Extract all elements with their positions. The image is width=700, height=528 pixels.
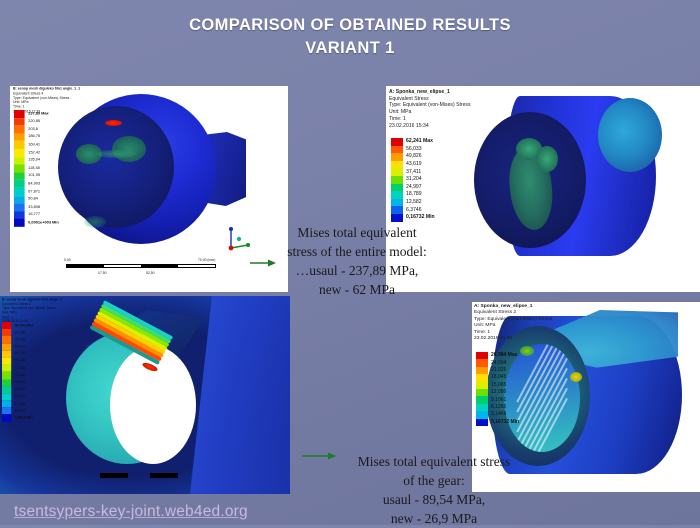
legend-swatch [14,180,25,188]
legend-row: 26,153 [2,386,33,393]
legend-swatch [14,211,25,219]
legend-row: 12,086 [476,389,519,396]
legend-swatch [391,206,403,214]
legend-row: 15,065 [476,382,519,389]
legend-swatch [476,389,488,396]
legend-row: 56,033 [391,146,435,154]
legend-swatch [476,411,488,418]
ruler-tick-label: 17,50 [98,271,107,275]
legend-swatch [14,157,25,165]
legend-row: 37,411 [391,168,435,176]
ruler-tick-label: 52,50 [146,271,155,275]
fea-panel-top-left[interactable]: B: eenop mesh diguleko 6to1 angle_1_1 Eq… [10,86,288,292]
legend-row: 62,241 Max [391,138,435,146]
legend-swatch [2,379,11,386]
scale-ruler-top-left: 0,00 17,50 52,50 70,00 (mm) [66,264,216,268]
legend-swatch [2,393,11,400]
stress-legend-top-right: 62,241 Max 56,033 49,826 43,619 37,411 3… [391,138,435,222]
slide-title-line2: VARIANT 1 [0,37,700,60]
legend-swatch [2,386,11,393]
annotation-line: Mises total equivalent stress [334,452,534,471]
legend-swatch [391,153,403,161]
footer-url[interactable]: tsentsypers-key-joint.web4ed.org [14,503,248,521]
legend-swatch [391,161,403,169]
slide-title-line1: COMPARISON OF OBTAINED RESULTS [0,14,700,37]
model-3d-top-right[interactable] [470,90,690,270]
legend-row: 0,16732 Min [391,214,435,222]
stress-legend-bottom-left: 89,543 Max 82,500 75,456 68,413 61,370 5… [2,322,33,422]
legend-swatch [476,374,488,381]
annotation-line: new - 62 MPa [258,280,456,299]
legend-swatch [2,358,11,365]
annotation-line: new - 26,9 MPa [334,509,534,528]
legend-swatch [2,372,11,379]
stress-hotspot [520,346,534,356]
legend-swatch [2,350,11,357]
orientation-triad-top-left [224,226,250,252]
ruler-tick-label: 0,00 [64,258,71,262]
legend-row: 21,025 [476,367,519,374]
legend-row: 19,110 [2,393,33,400]
ansys-info-header-bottom-left: B: eenop mesh diguleko 6to1 angle_1 Equi… [2,298,62,325]
legend-row: 16,777 [14,211,59,219]
legend-swatch [391,176,403,184]
legend-row: 50,84 [14,196,59,204]
legend-swatch [14,219,25,227]
legend-row: 49,826 [391,153,435,161]
legend-row: 75,456 [2,336,33,343]
legend-swatch [2,400,11,407]
legend-swatch [14,188,25,196]
legend-row: 33,196 [2,379,33,386]
legend-row: 3,1469 [476,411,519,418]
legend-swatch [476,359,488,366]
legend-row: 118,48 [14,164,59,172]
legend-swatch [391,168,403,176]
legend-row: 101,95 [14,172,59,180]
ruler-segment [67,265,104,267]
annotation-line: Mises total equivalent [258,223,456,242]
legend-swatch [391,146,403,154]
annotation-line: stress of the entire model: [258,242,456,261]
legend-swatch [14,110,25,118]
slide-title: COMPARISON OF OBTAINED RESULTS VARIANT 1 [0,14,700,60]
fea-panel-bottom-left[interactable]: B: eenop mesh diguleko 6to1 angle_1 Equi… [0,296,290,494]
peak-stress-marker [105,120,122,126]
legend-row: 24,997 [391,184,435,192]
legend-row: 135,04 [14,157,59,165]
legend-swatch [2,415,11,422]
legend-swatch [14,149,25,157]
legend-swatch [14,164,25,172]
annotation-arrow-gear [302,451,336,461]
legend-row: 152,42 [14,149,59,157]
legend-row: 33,808 [14,203,59,211]
legend-swatch [2,322,11,329]
legend-swatch [2,407,11,414]
legend-row: 68,413 [2,343,33,350]
legend-swatch [391,184,403,192]
legend-swatch [14,196,25,204]
legend-row: 203,8 [14,126,59,134]
legend-row: 6,1265 [476,404,519,411]
annotation-arrow-model [250,258,276,268]
legend-row: 82,500 [2,329,33,336]
model-high-stress-bulge [598,98,662,172]
model-3d-bottom-left[interactable] [0,296,290,494]
stress-hotspot [570,372,582,382]
ruler-bar [66,264,216,268]
legend-row: 24,004 [476,359,519,366]
legend-row: 169,41 [14,141,59,149]
legend-row: 18,045 [476,374,519,381]
legend-row: 40,240 [2,372,33,379]
legend-row: 9,1061 [476,396,519,403]
ruler-segment [104,265,141,267]
legend-row: 67,871 [14,188,59,196]
legend-row: 26,984 Max [476,352,519,359]
legend-swatch [476,352,488,359]
legend-row: 31,204 [391,176,435,184]
legend-row: 47,283 [2,365,33,372]
legend-swatch [391,199,403,207]
legend-row: 0,16732 Min [476,419,519,426]
legend-swatch [14,172,25,180]
legend-row: 61,370 [2,350,33,357]
legend-swatch [14,203,25,211]
legend-row: 5,0231 [2,407,33,414]
stress-legend-bottom-right: 26,984 Max 24,004 21,025 18,045 15,065 1… [476,352,519,426]
legend-row: 12,066 [2,400,33,407]
stress-legend-top-left: 237,89 Max 220,85 203,8 186,75 169,41 15… [14,110,59,227]
legend-swatch [476,382,488,389]
annotation-line: usaul - 89,54 MPa, [334,490,534,509]
legend-row: 43,619 [391,161,435,169]
legend-swatch [476,404,488,411]
legend-swatch [2,343,11,350]
annotation-line: of the gear: [334,471,534,490]
legend-swatch [14,118,25,126]
ansys-info-header-bottom-right: A: Sponka_new_elipse_1 Equivalent Stress… [474,304,552,343]
legend-row: 220,85 [14,118,59,126]
legend-swatch [391,214,403,222]
legend-swatch [2,336,11,343]
legend-swatch [476,367,488,374]
legend-row: 186,75 [14,133,59,141]
ruler-segment [178,265,215,267]
stress-blob [536,146,558,172]
legend-row: 0,0001e+003 Min [14,219,59,227]
legend-row: 0,0012 Min [2,415,33,422]
legend-row: 89,543 Max [2,322,33,329]
legend-row: 6,3746 [391,206,435,214]
stress-blob [84,216,106,228]
ansys-info-header-top-right: A: Sponka_new_elipse_1 Equivalent Stress… [389,89,471,129]
legend-swatch [2,365,11,372]
legend-swatch [391,138,403,146]
legend-row: 18,789 [391,191,435,199]
legend-swatch [476,396,488,403]
legend-swatch [14,126,25,134]
ruler-segment [141,265,178,267]
legend-row: 54,326 [2,358,33,365]
legend-swatch [14,141,25,149]
legend-row: 12,582 [391,199,435,207]
annotation-gear: Mises total equivalent stress of the gea… [334,452,534,528]
legend-row: 237,89 Max [14,110,59,118]
model-support-block [150,473,178,478]
model-support-block [100,473,128,478]
annotation-total-model: Mises total equivalent stress of the ent… [258,223,456,299]
legend-swatch [14,133,25,141]
legend-swatch [2,329,11,336]
ruler-tick-label: 70,00 (mm) [198,258,215,262]
stress-blob [96,150,136,158]
legend-swatch [391,191,403,199]
annotation-line: …usaul - 237,89 MPa, [258,261,456,280]
stress-blob [112,136,146,162]
legend-swatch [476,419,488,426]
legend-row: 84,903 [14,180,59,188]
